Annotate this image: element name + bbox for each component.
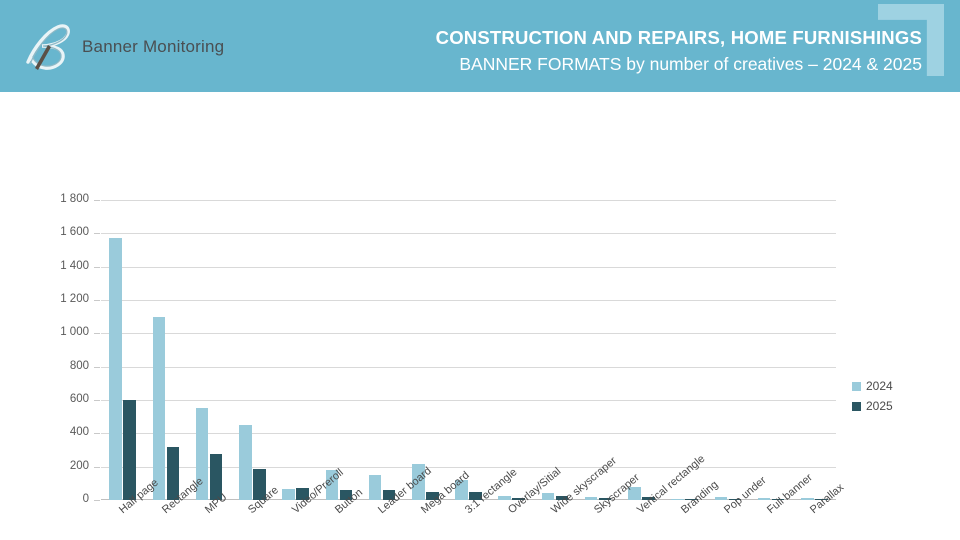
bar-2024 [542, 493, 555, 500]
y-axis-tick-mark [94, 400, 100, 401]
brand-name: Banner Monitoring [82, 37, 224, 57]
bar-group [282, 200, 309, 500]
y-axis-tick-mark [94, 333, 100, 334]
slide-header: Banner Monitoring CONSTRUCTION AND REPAI… [0, 0, 960, 92]
bar-2024 [498, 496, 511, 500]
bar-group [369, 200, 396, 500]
y-axis-tick-label: 600 [29, 394, 89, 405]
bar-group [455, 200, 482, 500]
bar-group [628, 200, 655, 500]
legend-label: 2025 [866, 399, 893, 413]
y-axis-tick-label: 800 [29, 361, 89, 372]
y-axis-tick-mark [94, 233, 100, 234]
bar-2024 [671, 499, 684, 501]
y-axis-tick-label: 1 600 [29, 227, 89, 238]
bar-group [326, 200, 353, 500]
legend-swatch-icon [852, 382, 861, 391]
title-block: CONSTRUCTION AND REPAIRS, HOME FURNISHIN… [222, 26, 922, 77]
y-axis-tick-label: 1 400 [29, 261, 89, 272]
bar-group [239, 200, 266, 500]
plot-area [101, 200, 836, 500]
bar-2024 [282, 489, 295, 500]
y-axis-tick-label: 1 200 [29, 294, 89, 305]
bar-group [671, 200, 698, 500]
y-axis-tick-label: 400 [29, 427, 89, 438]
y-axis-tick-mark [94, 267, 100, 268]
y-axis-tick-label: 1 000 [29, 327, 89, 338]
bar-group [498, 200, 525, 500]
y-axis-tick-mark [94, 200, 100, 201]
bar-group [196, 200, 223, 500]
script-b-logo-icon [18, 18, 80, 76]
bar-group [715, 200, 742, 500]
slide-title: CONSTRUCTION AND REPAIRS, HOME FURNISHIN… [222, 26, 922, 50]
chart-legend: 20242025 [852, 376, 952, 416]
chart-container: 02004006008001 0001 2001 4001 6001 800 H… [0, 92, 960, 540]
bar-group [801, 200, 828, 500]
bar-2024 [801, 498, 814, 500]
y-axis-tick-label: 200 [29, 461, 89, 472]
y-axis-tick-mark [94, 433, 100, 434]
slide-subtitle: BANNER FORMATS by number of creatives – … [222, 52, 922, 77]
bar-group [153, 200, 180, 500]
y-axis-tick-mark [94, 467, 100, 468]
bar-2024 [153, 317, 166, 500]
bar-group [585, 200, 612, 500]
bar-2024 [369, 475, 382, 500]
legend-swatch-icon [852, 402, 861, 411]
y-axis-tick-mark [94, 300, 100, 301]
bar-2025 [123, 400, 136, 500]
bar-2024 [109, 238, 122, 501]
y-axis-tick-mark [94, 500, 100, 501]
legend-item-2024[interactable]: 2024 [852, 376, 952, 396]
bar-2024 [758, 498, 771, 501]
bar-2024 [239, 425, 252, 500]
y-axis-tick-mark [94, 367, 100, 368]
y-axis-tick-label: 0 [29, 494, 89, 505]
bar-group [758, 200, 785, 500]
legend-item-2025[interactable]: 2025 [852, 396, 952, 416]
bar-2024 [585, 497, 598, 500]
y-axis-tick-label: 1 800 [29, 194, 89, 205]
bar-group [109, 200, 136, 500]
bar-group [412, 200, 439, 500]
bar-group [542, 200, 569, 500]
bar-2024 [715, 497, 728, 500]
slide-root: Banner Monitoring CONSTRUCTION AND REPAI… [0, 0, 960, 540]
legend-label: 2024 [866, 379, 893, 393]
bar-series-group [101, 200, 836, 500]
